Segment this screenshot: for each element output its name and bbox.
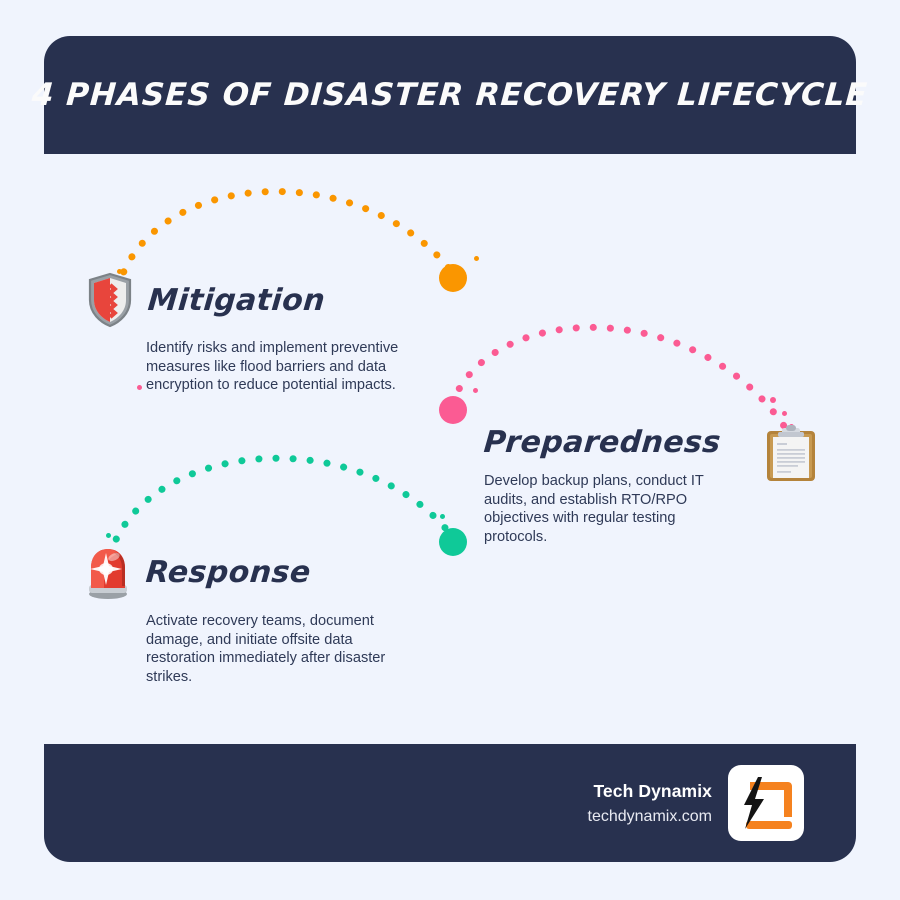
footer-banner: Tech Dynamix techdynamix.com: [44, 744, 856, 862]
clipboard-icon: [765, 424, 817, 482]
page-title: 4 PHASES OF DISASTER RECOVERY LIFECYCLE: [31, 77, 869, 113]
phase-description-response: Activate recovery teams, document damage…: [146, 612, 416, 687]
phase-block-response: Response Activate recovery teams, docume…: [84, 544, 416, 687]
speck-teal: [440, 514, 445, 519]
phase-description-mitigation: Identify risks and implement preventive …: [146, 339, 436, 395]
brand-url: techdynamix.com: [588, 805, 713, 828]
speck-teal: [106, 533, 111, 538]
phase-block-preparedness: Preparedness Develop backup plans, condu…: [484, 425, 734, 547]
phase-title-mitigation: Mitigation: [146, 283, 326, 318]
siren-icon: [84, 544, 132, 600]
phase-description-preparedness: Develop backup plans, conduct IT audits,…: [484, 472, 734, 547]
arc-pink-icon: [452, 327, 788, 432]
infographic-canvas: 4 PHASES OF DISASTER RECOVERY LIFECYCLE: [0, 0, 900, 900]
node-dot-response: [439, 528, 467, 556]
phase-header-mitigation: Mitigation: [86, 272, 436, 328]
node-dot-preparedness: [439, 396, 467, 424]
phase-header-preparedness: Preparedness: [484, 425, 734, 460]
brand-name: Tech Dynamix: [588, 778, 713, 804]
phase-title-preparedness: Preparedness: [482, 425, 722, 460]
phase-block-mitigation: Mitigation Identify risks and implement …: [86, 272, 436, 395]
phase-title-response: Response: [144, 555, 312, 590]
speck-pink: [473, 388, 478, 393]
node-dot-mitigation: [439, 264, 467, 292]
arc-teal-icon: [110, 458, 452, 555]
speck-pink: [782, 411, 787, 416]
shield-icon: [86, 272, 134, 328]
header-banner: 4 PHASES OF DISASTER RECOVERY LIFECYCLE: [44, 36, 856, 154]
speck-pink: [770, 397, 776, 403]
footer-text-group: Tech Dynamix techdynamix.com: [588, 778, 713, 827]
speck-orange: [474, 256, 479, 261]
laptop-bolt-logo-icon: [728, 765, 804, 841]
phase-header-response: Response: [84, 544, 416, 600]
